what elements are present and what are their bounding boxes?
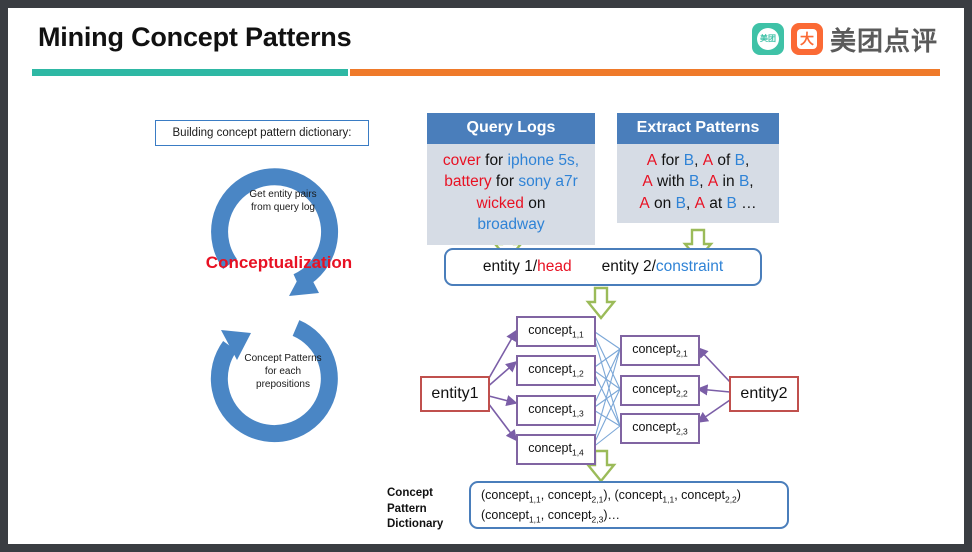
entity1-slot-role: head [537, 258, 571, 275]
concept-node-2-1: concept2,1 [620, 335, 700, 366]
query-logs-body: cover for iphone 5s,battery for sony a7r… [427, 144, 595, 245]
entity1-slot: entity 1/head [483, 258, 572, 276]
dictionary-box: (concept1,1, concept2,1), (concept1,1, c… [469, 481, 789, 529]
concept-node-2-3: concept2,3 [620, 413, 700, 444]
entity2-slot: entity 2/constraint [602, 258, 723, 276]
extract-patterns-panel: Extract Patterns A for B, A of B,A with … [617, 113, 779, 223]
green-arrow-slot-to-network [588, 288, 614, 318]
dictionary-entry-line2: (concept1,1, concept2,3)… [481, 506, 777, 526]
concept-node-1-3-label: concept1,3 [528, 402, 584, 419]
concept-node-1-2: concept1,2 [516, 355, 596, 386]
entity1-slot-plain: entity 1/ [483, 258, 537, 275]
entity2-node: entity2 [729, 376, 799, 412]
entity2-slot-role: constraint [656, 258, 723, 275]
entity2-node-label: entity2 [740, 385, 787, 403]
concept-node-1-2-label: concept1,2 [528, 362, 584, 379]
cycle-label-top: Get entity pairs from query log [233, 188, 333, 214]
meituan-badge-label: 美团 [757, 28, 779, 50]
cycle-label-bottom-line3: prepositions [233, 378, 333, 391]
query-logs-panel: Query Logs cover for iphone 5s,battery f… [427, 113, 595, 245]
page-title: Mining Concept Patterns [38, 22, 351, 53]
cycle-label-bottom-line1: Concept Patterns [233, 352, 333, 365]
concept-node-2-2-label: concept2,2 [632, 382, 688, 399]
divider-teal [32, 69, 348, 76]
dianping-badge-icon: 大 [791, 23, 823, 55]
concept-node-2-1-label: concept2,1 [632, 342, 688, 359]
concept-node-2-3-label: concept2,3 [632, 420, 688, 437]
dictionary-label: Concept Pattern Dictionary [387, 486, 457, 533]
meituan-badge-icon: 美团 [752, 23, 784, 55]
slide-canvas: Mining Concept Patterns 美团 大 美团点评 Buildi… [8, 8, 964, 544]
concept-node-2-2: concept2,2 [620, 375, 700, 406]
concept-node-1-4: concept1,4 [516, 434, 596, 465]
extract-patterns-body: A for B, A of B,A with B, A in B,A on B,… [617, 144, 779, 223]
concept-node-1-1-label: concept1,1 [528, 323, 584, 340]
dictionary-label-line3: Dictionary [387, 517, 457, 533]
entity1-node-label: entity1 [431, 385, 478, 403]
extract-patterns-header: Extract Patterns [617, 113, 779, 144]
dictionary-label-line1: Concept [387, 486, 457, 502]
entity-slot-bar: entity 1/head entity 2/constraint [444, 248, 762, 286]
dictionary-label-line2: Pattern [387, 502, 457, 518]
entity2-slot-plain: entity 2/ [602, 258, 656, 275]
building-dictionary-caption: Building concept pattern dictionary: [155, 120, 369, 146]
brand-logo: 美团 大 美团点评 [752, 21, 938, 57]
dianping-badge-label: 大 [797, 29, 817, 49]
concept-node-1-3: concept1,3 [516, 395, 596, 426]
concept-bipartite-links [592, 330, 620, 448]
cycle-label-bottom-line2: for each [233, 365, 333, 378]
entity1-node: entity1 [420, 376, 490, 412]
cycle-label-top-line2: from query log [233, 201, 333, 214]
cycle-label-top-line1: Get entity pairs [233, 188, 333, 201]
brand-wordmark: 美团点评 [830, 21, 938, 58]
slide-frame: Mining Concept Patterns 美团 大 美团点评 Buildi… [0, 0, 972, 552]
dictionary-entry-line1: (concept1,1, concept2,1), (concept1,1, c… [481, 486, 777, 506]
cycle-label-bottom: Concept Patterns for each prepositions [233, 352, 333, 391]
cycle-center-label: Conceptualization [184, 253, 374, 273]
divider-orange [350, 69, 940, 76]
concept-node-1-1: concept1,1 [516, 316, 596, 347]
concept-node-1-4-label: concept1,4 [528, 441, 584, 458]
query-logs-header: Query Logs [427, 113, 595, 144]
